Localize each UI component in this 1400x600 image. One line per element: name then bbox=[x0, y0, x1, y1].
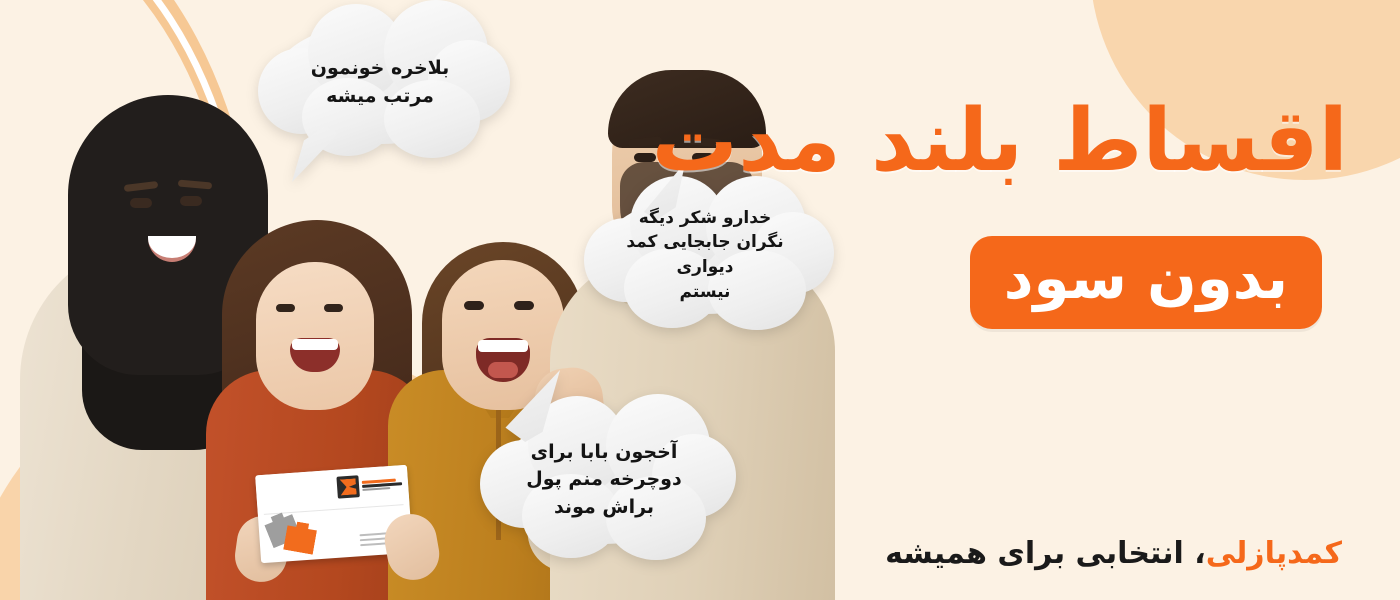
bubble-text-mother: بلاخره خونمون مرتب میشه bbox=[301, 55, 460, 110]
card-logo-wordmark bbox=[362, 478, 403, 491]
speech-bubble-mother: بلاخره خونمون مرتب میشه bbox=[272, 22, 488, 144]
speech-bubble-father: خدارو شکر دیگه نگران جابجایی کمد دیواری … bbox=[600, 196, 810, 314]
girl-teeth bbox=[292, 339, 338, 350]
girl-face bbox=[256, 262, 374, 410]
card-logo bbox=[336, 472, 402, 498]
card-logo-mark-icon bbox=[336, 475, 359, 498]
speech-bubble-boy: آخجون بابا برای دوچرخه منم پول براش موند bbox=[496, 416, 712, 544]
mother-eye-left bbox=[130, 198, 152, 208]
bubble-text-boy: آخجون بابا برای دوچرخه منم پول براش موند bbox=[516, 439, 691, 522]
no-interest-badge: بدون سود bbox=[970, 236, 1322, 329]
boy-eye-left bbox=[464, 301, 484, 310]
boy-eye-right bbox=[514, 301, 534, 310]
tagline-rest: ، انتخابی برای همیشه bbox=[885, 536, 1206, 571]
bubble-text-father: خدارو شکر دیگه نگران جابجایی کمد دیواری … bbox=[600, 206, 810, 305]
promo-banner: بلاخره خونمون مرتب میشه خدارو شکر دیگه ن… bbox=[0, 0, 1400, 600]
tagline-brand: کمدپازلی bbox=[1206, 536, 1342, 571]
boy-tongue bbox=[488, 362, 518, 378]
girl-eye-left bbox=[276, 304, 295, 312]
girl-eye-right bbox=[324, 304, 343, 312]
tagline: کمدپازلی، انتخابی برای همیشه bbox=[885, 536, 1342, 571]
boy-teeth bbox=[478, 340, 528, 352]
headline: اقساط بلند مدت bbox=[652, 94, 1348, 189]
